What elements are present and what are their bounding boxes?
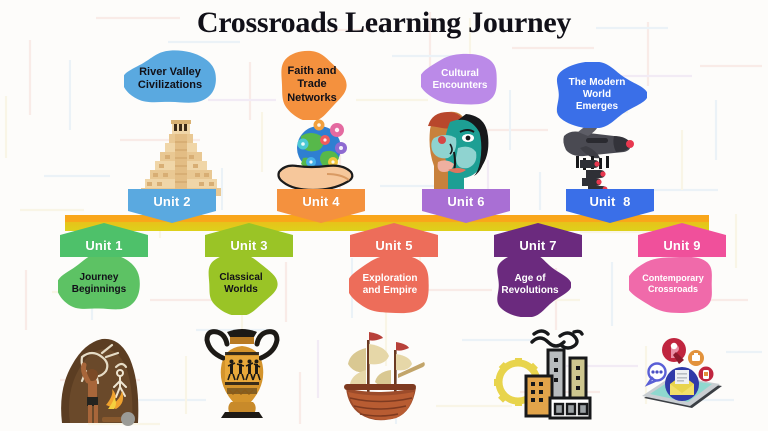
timeline-marker-unit-4[interactable]: Unit 4	[277, 189, 365, 223]
blob-journey-beginnings-label: Journey Beginnings	[58, 253, 140, 315]
blob-faith-trade: Faith and Trade Networks	[276, 50, 348, 120]
blob-classical-worlds-label: Classical Worlds	[203, 253, 279, 315]
timeline-marker-unit-1[interactable]: Unit 1	[60, 223, 148, 257]
blob-cultural: Cultural Encounters	[421, 52, 499, 108]
blob-age-revolutions: Age of Revolutions	[489, 253, 571, 317]
timeline-marker-unit-9[interactable]: Unit 9	[638, 223, 726, 257]
unit-3-label: Unit 3	[230, 238, 267, 253]
blob-classical-worlds: Classical Worlds	[203, 253, 279, 315]
unit-6-label: Unit 6	[447, 194, 484, 209]
bomber-plane-icon	[560, 118, 638, 194]
hand-holding-globe-icon	[275, 118, 357, 192]
blob-contemporary: Contemporary Crossroads	[629, 253, 717, 315]
tablet-social-icon	[630, 332, 734, 422]
blob-river-valley-label: River Valley Civilizations	[124, 50, 216, 108]
timeline-marker-unit-5[interactable]: Unit 5	[350, 223, 438, 257]
unit-4-label: Unit 4	[302, 194, 339, 209]
timeline-marker-unit-2[interactable]: Unit 2	[128, 189, 216, 223]
unit-7-label: Unit 7	[519, 238, 556, 253]
step-pyramid-icon	[135, 112, 227, 198]
page-title: Crossroads Learning Journey	[0, 6, 768, 40]
timeline-marker-unit-3[interactable]: Unit 3	[205, 223, 293, 257]
blob-age-revolutions-label: Age of Revolutions	[489, 253, 571, 317]
blob-journey-beginnings: Journey Beginnings	[58, 253, 140, 315]
unit-5-label: Unit 5	[375, 238, 412, 253]
two-faces-art-icon	[420, 108, 500, 196]
blob-river-valley: River Valley Civilizations	[124, 50, 216, 108]
blob-modern-world: The Modern World Emerges	[547, 62, 647, 128]
blob-contemporary-label: Contemporary Crossroads	[629, 253, 717, 315]
sailing-ship-icon	[332, 326, 432, 426]
unit-1-label: Unit 1	[85, 238, 122, 253]
unit-2-label: Unit 2	[153, 194, 190, 209]
blob-faith-trade-label: Faith and Trade Networks	[276, 50, 348, 120]
blob-exploration-empire-label: Exploration and Empire	[349, 253, 431, 317]
blob-cultural-label: Cultural Encounters	[421, 52, 499, 108]
timeline-marker-unit-8[interactable]: Unit 8	[566, 189, 654, 223]
blob-exploration-empire: Exploration and Empire	[349, 253, 431, 317]
timeline-marker-unit-7[interactable]: Unit 7	[494, 223, 582, 257]
infographic-canvas: Crossroads Learning Journey River Valley…	[0, 0, 768, 431]
factory-gear-icon	[488, 328, 592, 422]
unit-9-label: Unit 9	[663, 238, 700, 253]
unit-8-label: Unit 8	[589, 194, 630, 209]
greek-amphora-icon	[203, 322, 281, 426]
blob-modern-world-label: The Modern World Emerges	[547, 62, 647, 128]
cave-painting-icon	[44, 323, 148, 427]
timeline-marker-unit-6[interactable]: Unit 6	[422, 189, 510, 223]
